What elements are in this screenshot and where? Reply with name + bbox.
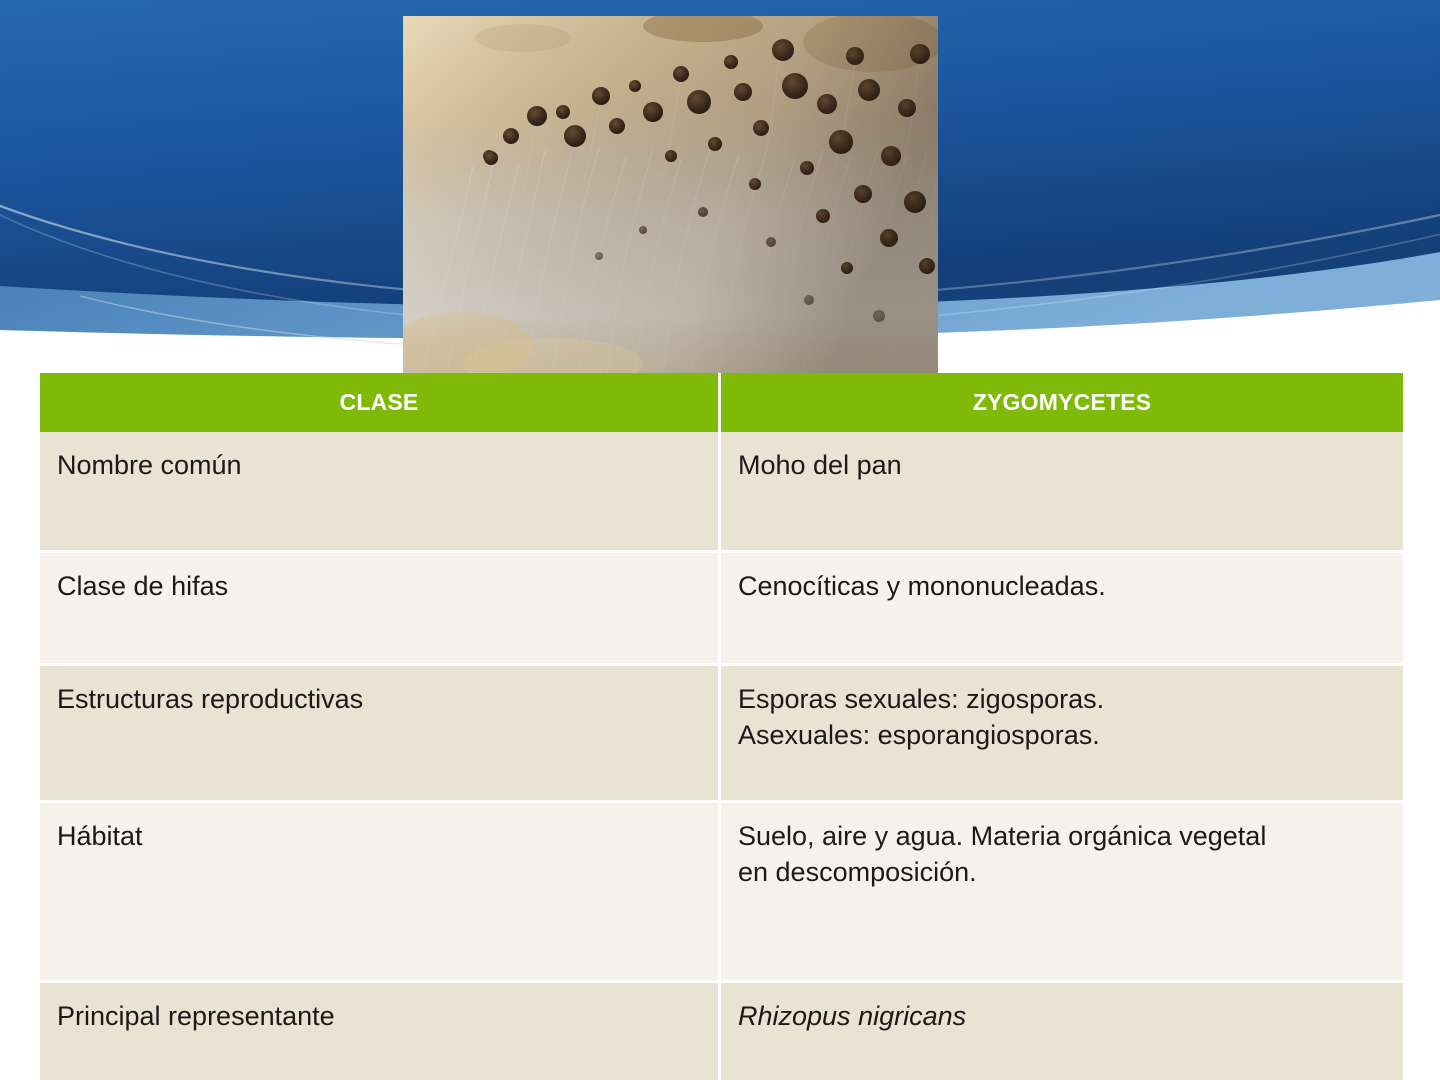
row-label-nombre-comun: Nombre común (40, 432, 721, 553)
value-line: Asexuales: esporangiosporas. (738, 718, 1387, 754)
row-label-habitat: Hábitat (40, 803, 721, 983)
value-line: Cenocíticas y mononucleadas. (738, 569, 1387, 605)
table-row: Clase de hifas Cenocíticas y mononuclead… (40, 553, 1403, 666)
value-line: Moho del pan (738, 448, 1387, 484)
row-label-clase-de-hifas: Clase de hifas (40, 553, 721, 666)
table-row: Hábitat Suelo, aire y agua. Materia orgá… (40, 803, 1403, 983)
table-row: Nombre común Moho del pan (40, 432, 1403, 553)
table-row: Principal representante Rhizopus nigrica… (40, 983, 1403, 1080)
bread-mold-photo (403, 16, 938, 373)
table-header-clase: CLASE (40, 373, 721, 432)
value-line: en descomposición. (738, 855, 1387, 891)
table-row: Estructuras reproductivas Esporas sexual… (40, 666, 1403, 803)
value-line: Rhizopus nigricans (738, 999, 1387, 1035)
value-line: Esporas sexuales: zigosporas. (738, 682, 1387, 718)
row-label-estructuras-reproductivas: Estructuras reproductivas (40, 666, 721, 803)
row-value-clase-de-hifas: Cenocíticas y mononucleadas. (721, 553, 1403, 666)
zygomycetes-comparison-table: CLASE ZYGOMYCETES Nombre común Moho del … (40, 373, 1403, 1080)
value-line: Suelo, aire y agua. Materia orgánica veg… (738, 819, 1387, 855)
row-value-nombre-comun: Moho del pan (721, 432, 1403, 553)
row-value-habitat: Suelo, aire y agua. Materia orgánica veg… (721, 803, 1403, 983)
table-header-row: CLASE ZYGOMYCETES (40, 373, 1403, 432)
table-header-zygomycetes: ZYGOMYCETES (721, 373, 1403, 432)
slide-canvas: CLASE ZYGOMYCETES Nombre común Moho del … (0, 0, 1440, 1080)
row-label-principal-representante: Principal representante (40, 983, 721, 1080)
row-value-estructuras-reproductivas: Esporas sexuales: zigosporas. Asexuales:… (721, 666, 1403, 803)
row-value-principal-representante: Rhizopus nigricans (721, 983, 1403, 1080)
